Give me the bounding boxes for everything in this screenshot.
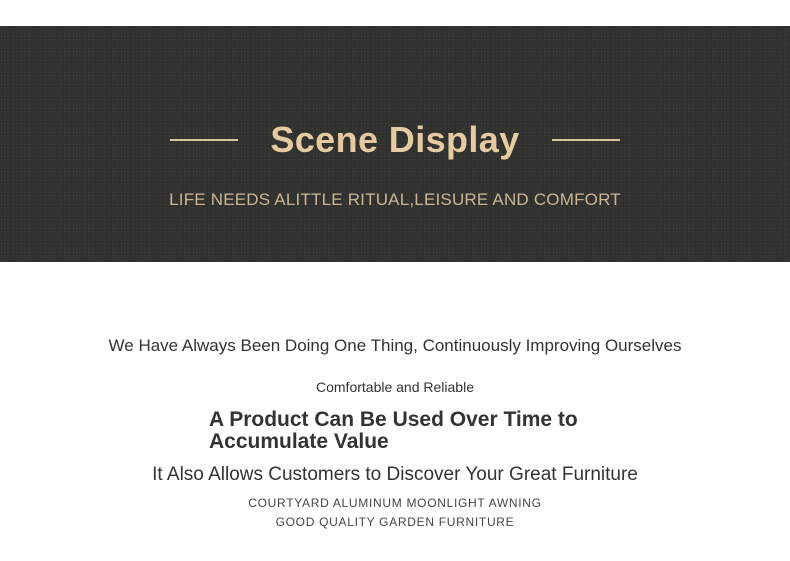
content-lead-line: We Have Always Been Doing One Thing, Con… [0,336,790,356]
caption-line-2: GOOD QUALITY GARDEN FURNITURE [0,513,790,532]
caption-block: COURTYARD ALUMINUM MOONLIGHT AWNING GOOD… [0,494,790,532]
content-section: We Have Always Been Doing One Thing, Con… [0,262,790,561]
content-block-heading: A Product Can Be Used Over Time to Accum… [209,409,589,453]
banner-subtitle: LIFE NEEDS ALITTLE RITUAL,LEISURE AND CO… [0,190,790,210]
content-sub-line: Comfortable and Reliable [0,379,790,395]
scene-display-banner: Scene Display LIFE NEEDS ALITTLE RITUAL,… [0,26,790,262]
product-detail-page: Scene Display LIFE NEEDS ALITTLE RITUAL,… [0,0,790,561]
decorative-rule-right [552,139,620,141]
content-tail-line: It Also Allows Customers to Discover You… [0,464,790,486]
top-white-strip [0,0,790,26]
decorative-rule-left [170,139,238,141]
banner-title-row: Scene Display [0,98,790,182]
banner-title: Scene Display [270,122,519,158]
caption-line-1: COURTYARD ALUMINUM MOONLIGHT AWNING [0,494,790,513]
